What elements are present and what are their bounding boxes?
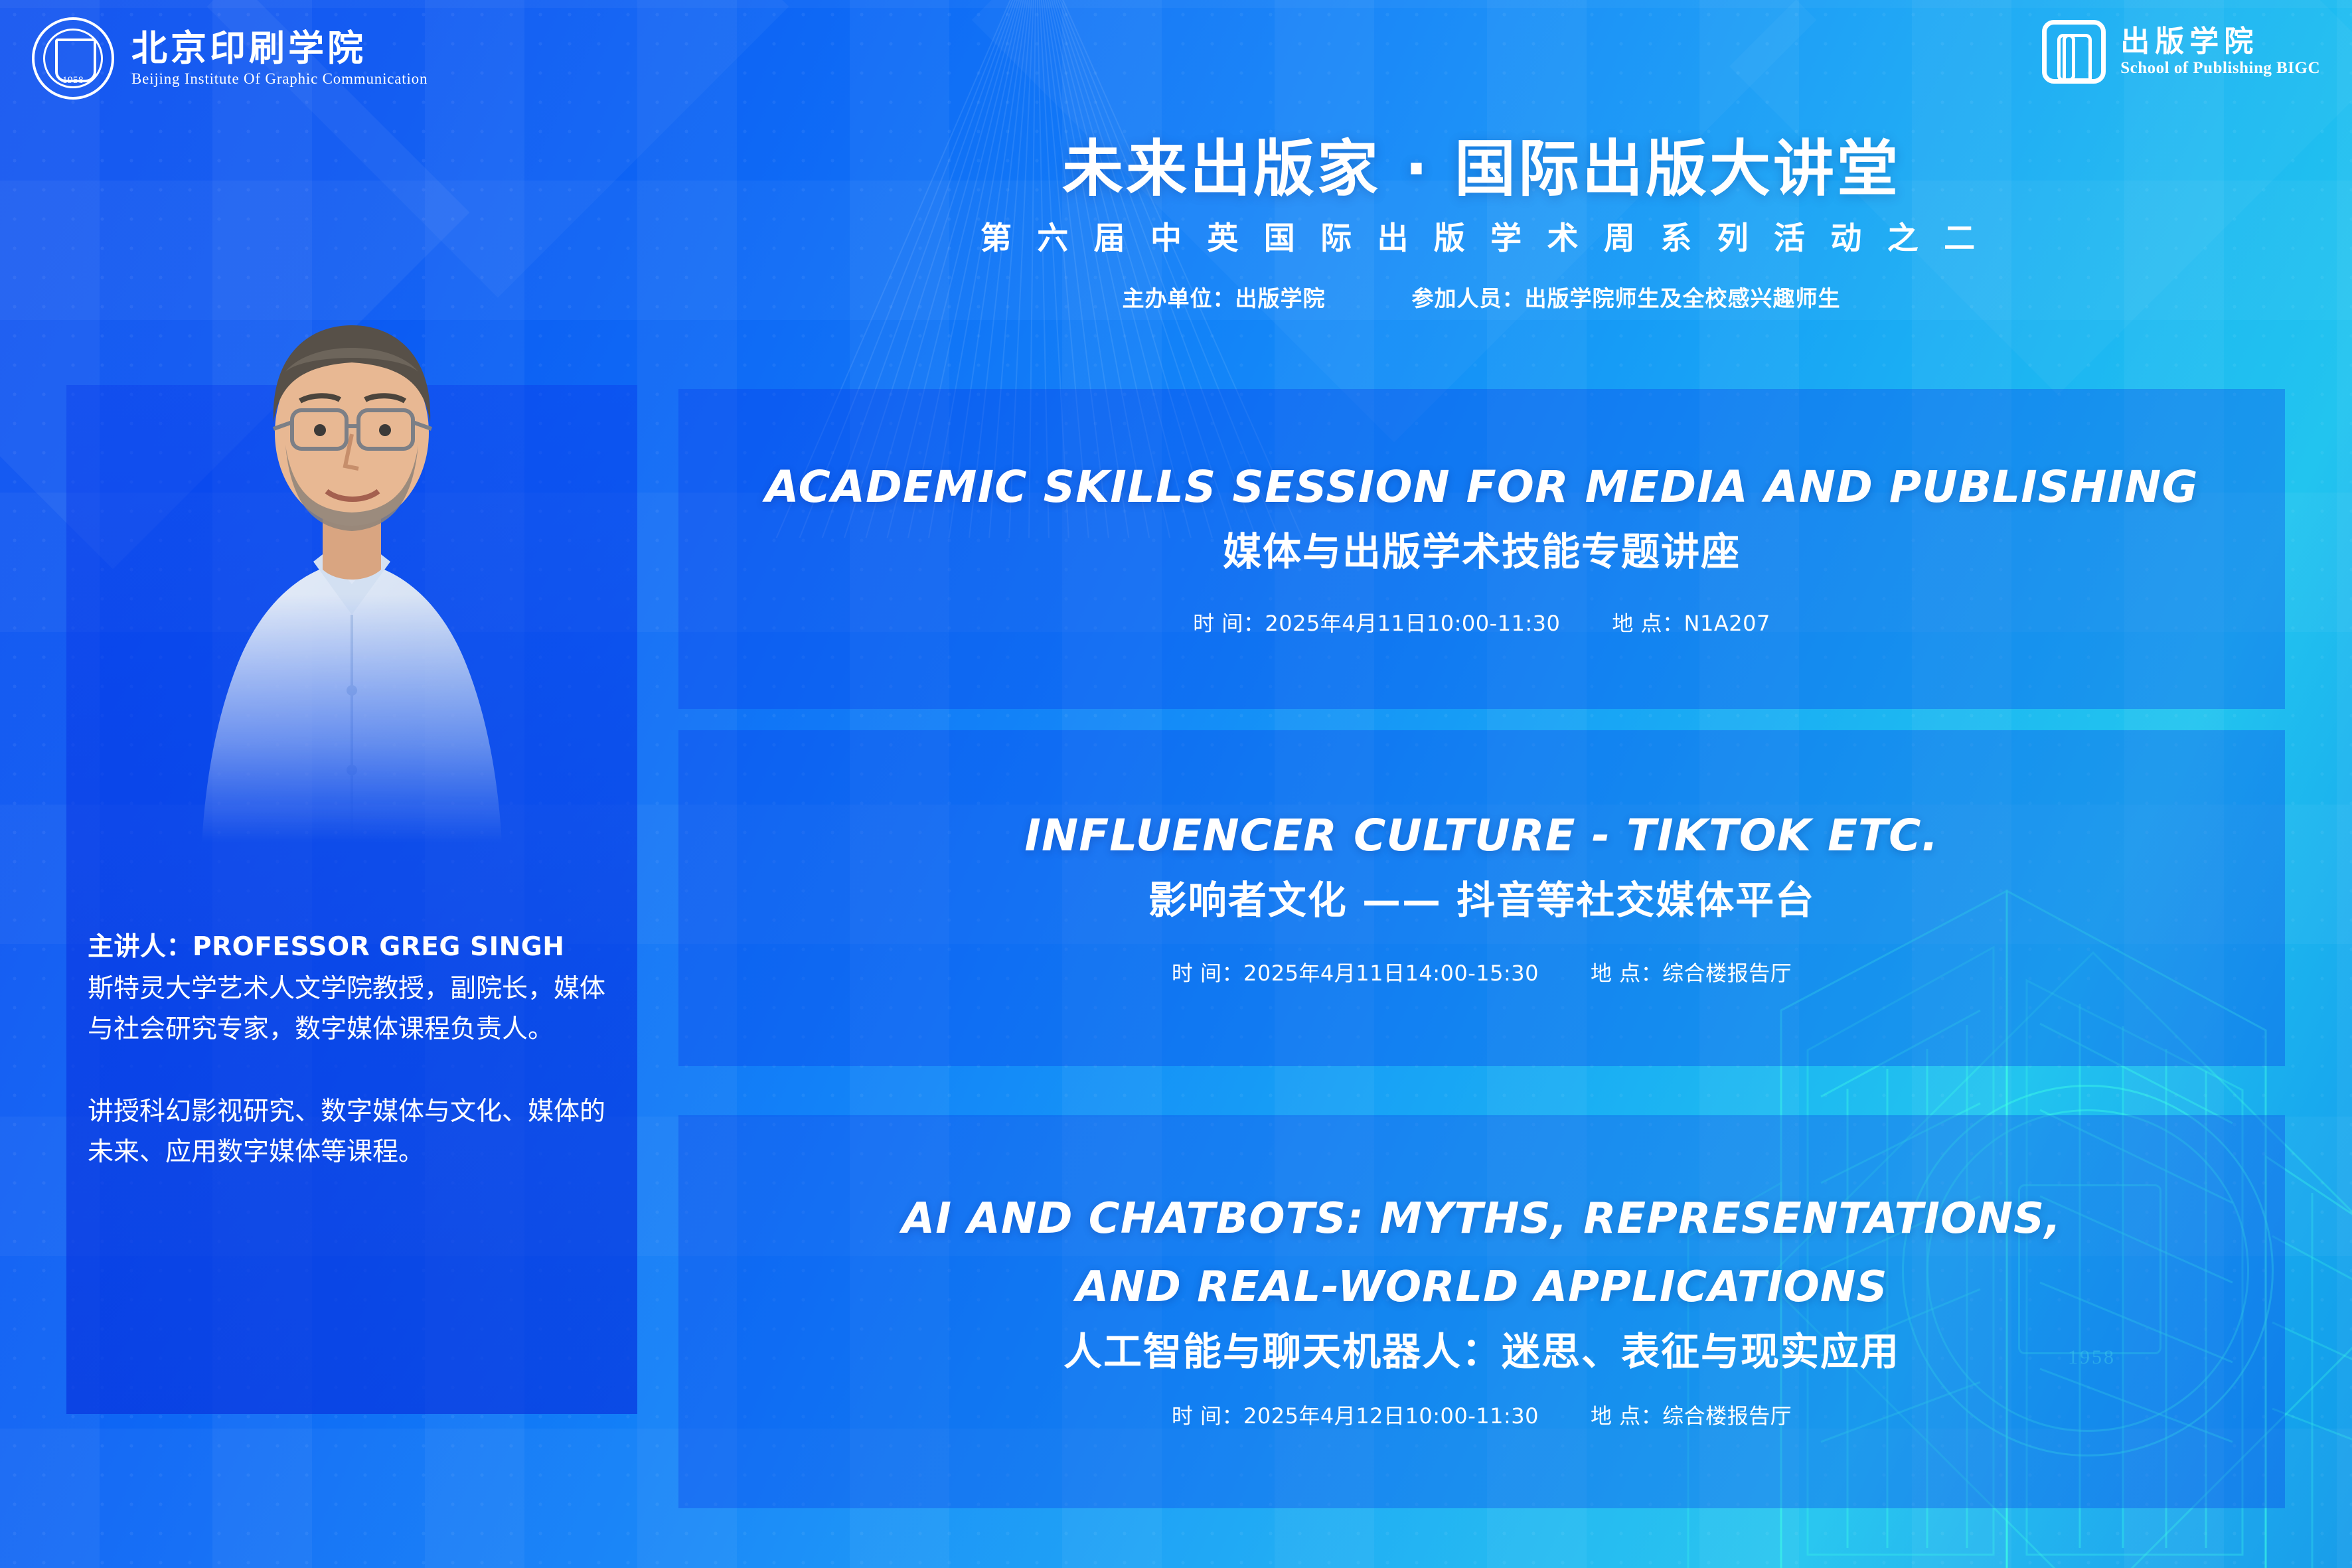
organizer-label: 主办单位：出版学院 — [1123, 281, 1326, 313]
poster-meta-row: 主办单位：出版学院 参加人员：出版学院师生及全校感兴趣师生 — [677, 281, 2286, 313]
session-2-time: 时 间：2025年4月11日14:00-15:30 — [1172, 957, 1539, 987]
school-name-en: School of Publishing BIGC — [2120, 59, 2320, 78]
session-card-3[interactable]: AI AND CHATBOTS: MYTHS, REPRESENTATIONS,… — [678, 1115, 2285, 1508]
poster-title-block: 未来出版家 · 国际出版大讲堂 第 六 届 中 英 国 际 出 版 学 术 周 … — [677, 136, 2286, 313]
university-name-cn: 北京印刷学院 — [131, 29, 428, 67]
session-3-title-en-line2: AND REAL-WORLD APPLICATIONS — [705, 1262, 2258, 1313]
session-2-title-cn: 影响者文化 —— 抖音等社交媒体平台 — [705, 876, 2258, 925]
speaker-bio-paragraph-2: 讲授科幻影视研究、数字媒体与文化、媒体的未来、应用数字媒体等课程。 — [88, 1091, 612, 1173]
session-1-time: 时 间：2025年4月11日10:00-11:30 — [1193, 607, 1560, 637]
session-3-title-cn: 人工智能与聊天机器人：迷思、表征与现实应用 — [705, 1328, 2258, 1376]
publishing-school-mark-icon — [2042, 20, 2106, 84]
session-2-title-en: INFLUENCER CULTURE - TIKTOK ETC. — [705, 809, 2258, 862]
session-1-title-en: ACADEMIC SKILLS SESSION FOR MEDIA AND PU… — [705, 461, 2258, 513]
speaker-portrait-photo — [66, 292, 637, 843]
session-1-meta: 时 间：2025年4月11日10:00-11:30 地 点：N1A207 — [705, 607, 2258, 637]
audience-label: 参加人员：出版学院师生及全校感兴趣师生 — [1412, 281, 1841, 313]
bigc-crest-icon: 1958 — [32, 17, 114, 100]
speaker-bio: 主讲人：PROFESSOR GREG SINGH 斯特灵大学艺术人文学院教授，副… — [88, 928, 612, 1173]
session-2-place: 地 点：综合楼报告厅 — [1591, 957, 1792, 987]
poster-main-title: 未来出版家 · 国际出版大讲堂 — [677, 136, 2286, 202]
speaker-name: 主讲人：PROFESSOR GREG SINGH — [88, 928, 612, 967]
school-of-publishing-logo-right: 出版学院 School of Publishing BIGC — [2042, 20, 2320, 84]
session-3-time: 时 间：2025年4月12日10:00-11:30 — [1172, 1399, 1539, 1430]
session-2-meta: 时 间：2025年4月11日14:00-15:30 地 点：综合楼报告厅 — [705, 957, 2258, 987]
poster-subtitle: 第 六 届 中 英 国 际 出 版 学 术 周 系 列 活 动 之 二 — [677, 212, 2286, 258]
session-1-place: 地 点：N1A207 — [1612, 607, 1770, 637]
speaker-bio-paragraph-1: 斯特灵大学艺术人文学院教授，副院长，媒体与社会研究专家，数字媒体课程负责人。 — [88, 969, 612, 1050]
poster-canvas: 1958 — [0, 0, 2352, 1568]
session-3-place: 地 点：综合楼报告厅 — [1591, 1399, 1792, 1430]
school-name-cn: 出版学院 — [2120, 26, 2320, 58]
session-3-meta: 时 间：2025年4月12日10:00-11:30 地 点：综合楼报告厅 — [705, 1399, 2258, 1430]
session-card-2[interactable]: INFLUENCER CULTURE - TIKTOK ETC. 影响者文化 —… — [678, 730, 2285, 1066]
session-card-1[interactable]: ACADEMIC SKILLS SESSION FOR MEDIA AND PU… — [678, 389, 2285, 709]
crest-year-label: 1958 — [35, 75, 112, 86]
session-3-title-en-line1: AI AND CHATBOTS: MYTHS, REPRESENTATIONS, — [705, 1194, 2258, 1245]
bigc-logo-left: 1958 北京印刷学院 Beijing Institute Of Graphic… — [32, 17, 428, 100]
session-1-title-cn: 媒体与出版学术技能专题讲座 — [705, 528, 2258, 576]
university-name-en: Beijing Institute Of Graphic Communicati… — [131, 70, 428, 88]
